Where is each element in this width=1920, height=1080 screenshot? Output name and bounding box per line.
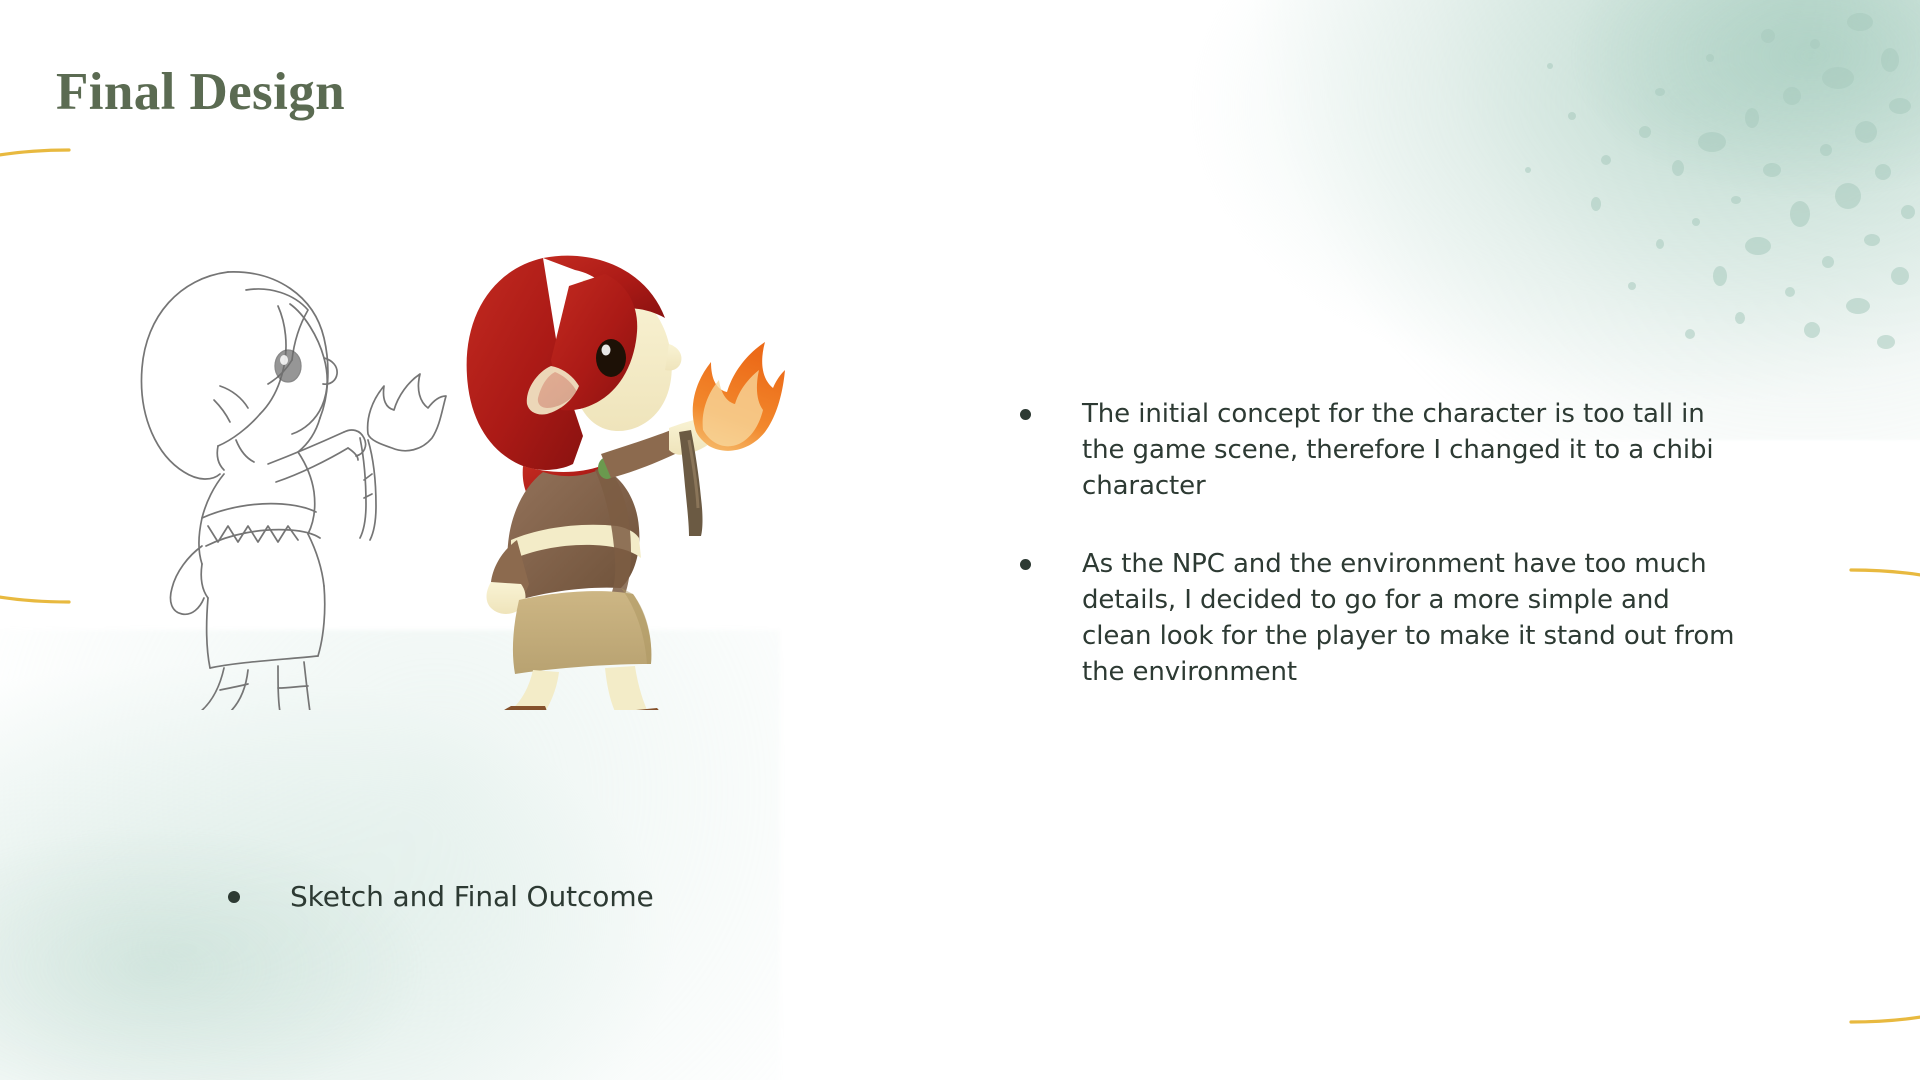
artwork-caption: Sketch and Final Outcome bbox=[228, 880, 654, 914]
bullet-text: As the NPC and the environment have too … bbox=[1082, 546, 1740, 690]
watercolor-speckles-icon bbox=[1360, 0, 1920, 360]
bullet-dot-icon bbox=[228, 891, 240, 903]
pencil-sketch-chibi-character-icon bbox=[128, 250, 468, 710]
bullet-dot-icon bbox=[1020, 559, 1031, 570]
bullet-text: The initial concept for the character is… bbox=[1082, 396, 1740, 504]
colored-chibi-character-icon bbox=[455, 240, 785, 710]
artwork-stage bbox=[0, 250, 960, 730]
bullet-list-right: The initial concept for the character is… bbox=[1020, 396, 1740, 690]
watercolor-wash-bottom-left-accent bbox=[0, 790, 550, 1080]
slide-canvas: Final Design bbox=[0, 0, 1920, 1080]
gold-arc-right-icon bbox=[1846, 566, 1920, 1026]
bullet-item: As the NPC and the environment have too … bbox=[1020, 546, 1740, 690]
bullet-dot-icon bbox=[1020, 409, 1031, 420]
page-title: Final Design bbox=[56, 63, 345, 121]
caption-text: Sketch and Final Outcome bbox=[290, 880, 654, 914]
bullet-item: The initial concept for the character is… bbox=[1020, 396, 1740, 504]
